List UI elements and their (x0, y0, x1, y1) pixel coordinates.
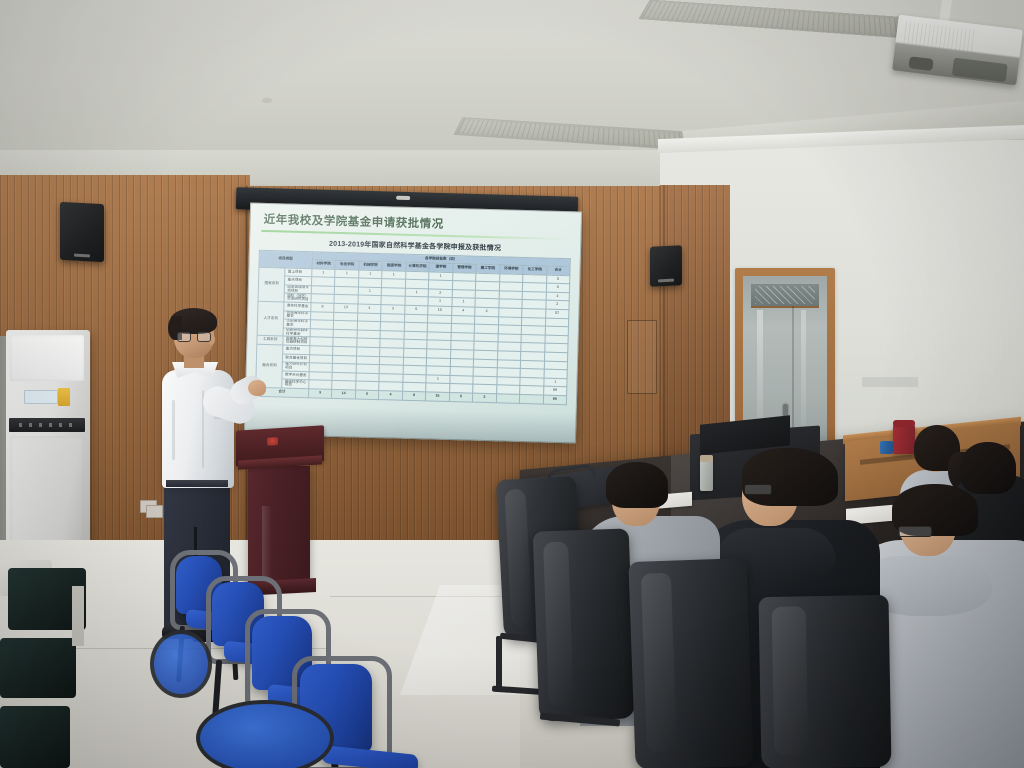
ac-control-panel[interactable] (9, 418, 85, 432)
bottle-cap-icon (700, 455, 713, 462)
wall-speaker-left (60, 202, 104, 262)
blue-cup (880, 441, 893, 454)
blue-chair-mesh-seat-2[interactable] (150, 630, 212, 698)
red-thermos (893, 424, 915, 454)
wall-sign (862, 377, 918, 387)
ac-air-outlet (10, 335, 84, 381)
ceiling-fitting (262, 98, 272, 103)
conference-room-photo: 近年我校及学院基金申请获批情况 2013-2019年国家自然科学基金各学院申报及… (0, 0, 1024, 768)
lectern-body (248, 466, 310, 584)
projection-screen: 近年我校及学院基金申请获批情况 2013-2019年国家自然科学基金各学院申报及… (244, 203, 582, 444)
wall-speaker-right (650, 245, 682, 287)
lectern-emblem-icon (267, 437, 278, 446)
speaker-logo-icon (74, 254, 90, 258)
speaker-logo-icon (658, 279, 674, 283)
ac-label (24, 390, 58, 404)
projector-vent-icon (903, 22, 975, 52)
transom-grill-icon (755, 286, 815, 304)
panel-seam (663, 185, 665, 485)
ac-energy-label (58, 388, 70, 406)
presenter-hand (248, 380, 266, 396)
wall-access-panel (627, 320, 657, 394)
audience-1-hair (606, 462, 668, 508)
thermos-lid-icon (893, 420, 915, 427)
screen-border (244, 203, 582, 444)
stacked-chair-2[interactable] (0, 638, 76, 698)
audience-3-glasses-icon (898, 526, 932, 537)
audience-2-glasses-icon (744, 484, 772, 495)
audience-2-hair (742, 448, 838, 506)
audience-5-hair (960, 442, 1016, 494)
chair-frame-edge (72, 586, 84, 646)
presenter-belt (166, 480, 228, 487)
projector-lens-icon (908, 56, 933, 71)
blue-chair-mesh-seat[interactable] (196, 700, 334, 768)
door-transom-window (751, 284, 819, 308)
screen-housing-label (396, 196, 410, 200)
door-glass-highlight-2 (801, 310, 806, 438)
projector-underside (952, 58, 1008, 82)
stacked-chair-3[interactable] (0, 706, 70, 768)
presenter-glasses-icon (177, 332, 209, 340)
water-bottle (700, 455, 713, 491)
